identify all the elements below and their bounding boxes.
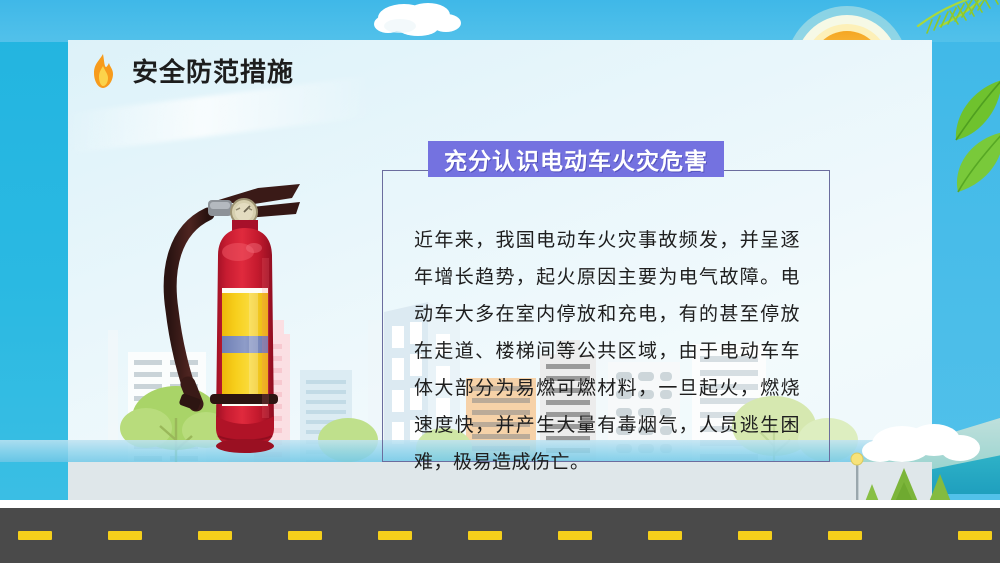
road-dash [18,531,52,540]
road-dash [108,531,142,540]
road-dash [558,531,592,540]
page-title: 安全防范措施 [132,52,294,89]
body-paragraph: 近年来，我国电动车火灾事故频发，并呈逐年增长趋势，起火原因主要为电气故障。电动车… [414,222,800,481]
cloud-decoration [370,2,480,36]
slide-root: 安全防范措施 充分认识电动车火灾危害 近年来，我国电动车火灾事故频发，并呈逐年增… [0,0,1000,563]
fire-extinguisher-illustration [150,178,330,468]
cloud-right-decoration [862,418,982,464]
road-dash [828,531,862,540]
road-dash [198,531,232,540]
flame-icon [88,53,118,89]
road-dash [738,531,772,540]
section-title-text: 充分认识电动车火灾危害 [444,142,708,176]
road-dash [378,531,412,540]
header: 安全防范措施 [88,52,294,89]
road-dash [288,531,322,540]
road-dash [648,531,682,540]
road-dash [958,531,992,540]
road-dash [468,531,502,540]
sky-left-band [0,0,68,563]
section-title-banner: 充分认识电动车火灾危害 [428,141,724,177]
